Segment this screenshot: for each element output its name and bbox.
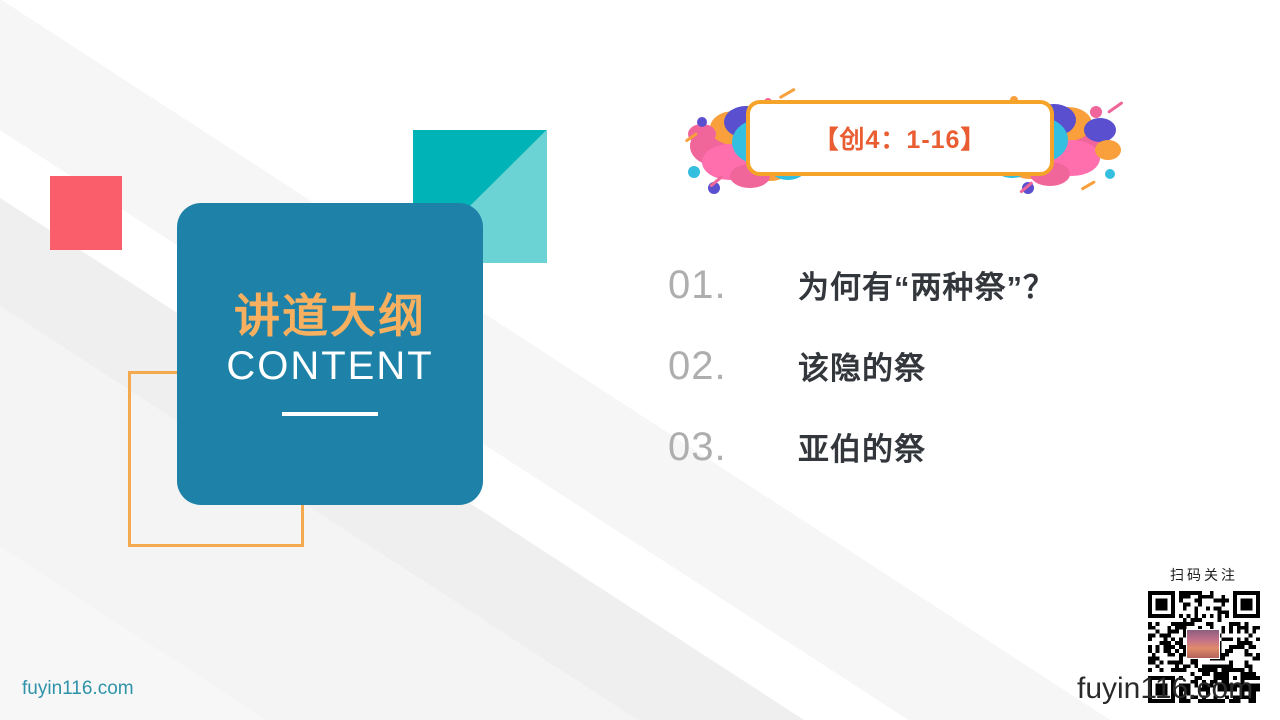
outline-item[interactable]: 01. 为何有“两种祭”？ [668,262,1188,343]
scripture-reference: 【创4：1-16】 [814,120,987,156]
pink-square-decoration [50,176,122,250]
qr-center-logo [1186,629,1220,659]
outline-item-label: 亚伯的祭 [798,424,926,469]
content-card-title-cn: 讲道大纲 [234,292,426,340]
content-card-divider [282,412,378,416]
outline-item-number: 02. [668,344,798,389]
content-card: 讲道大纲 CONTENT [177,203,483,505]
content-card-title-en: CONTENT [226,344,433,388]
qr-caption: 扫码关注 [1143,565,1265,585]
outline-item-number: 03. [668,425,798,470]
outline-item[interactable]: 02. 该隐的祭 [668,343,1188,424]
outline-item-number: 01. [668,263,798,308]
slide-canvas: 讲道大纲 CONTENT [0,0,1280,720]
outline-item-label: 该隐的祭 [798,343,926,388]
outline-item-label: 为何有“两种祭”？ [798,262,1055,307]
watermark-bottom-left: fuyin116.com [22,678,134,700]
outline-list: 01. 为何有“两种祭”？ 02. 该隐的祭 03. 亚伯的祭 [668,262,1188,505]
scripture-banner-box: 【创4：1-16】 [746,100,1054,176]
scripture-banner: 【创4：1-16】 [672,84,1130,202]
watermark-bottom-right: fuyin116.com [1077,672,1253,706]
outline-item[interactable]: 03. 亚伯的祭 [668,424,1188,505]
